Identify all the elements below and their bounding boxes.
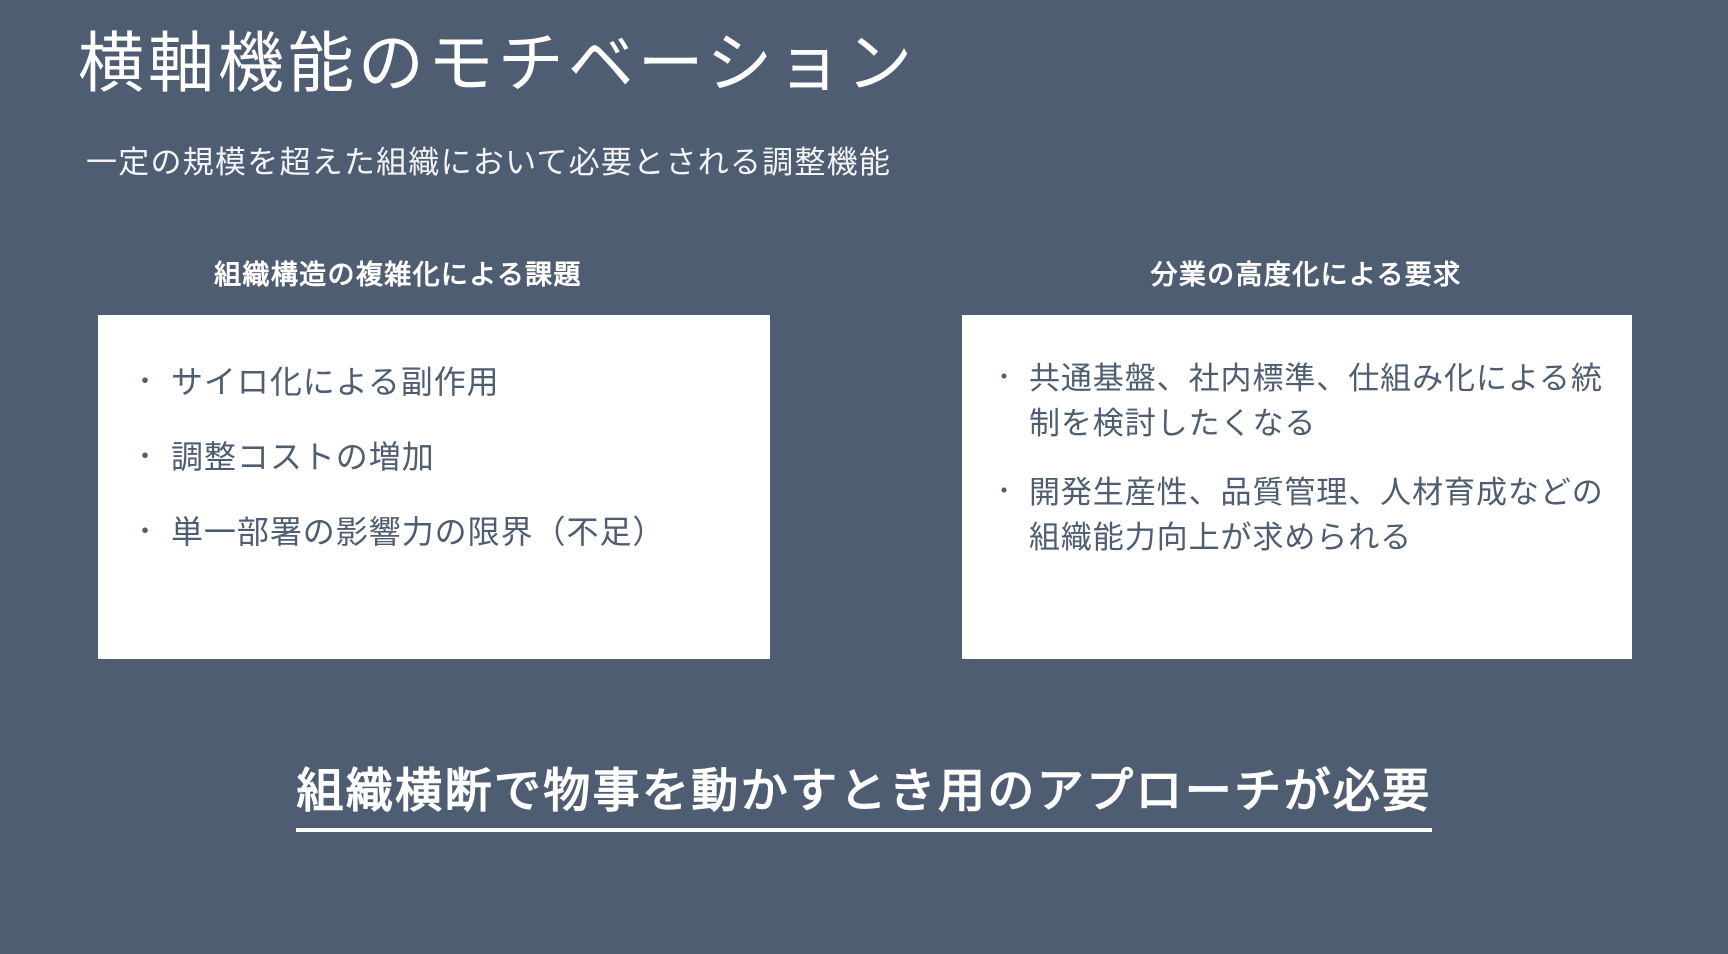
page-subtitle: 一定の規模を超えた組織において必要とされる調整機能: [86, 143, 891, 183]
list-item-label: 共通基盤、社内標準、仕組み化による統制を検討したくなる: [1029, 357, 1606, 447]
bullet-dot-icon: ・: [992, 357, 1017, 399]
card-challenges: ・ サイロ化による副作用 ・ 調整コストの増加 ・ 単一部署の影響力の限界（不足…: [98, 315, 770, 659]
conclusion-label: 組織横断で物事を動かすとき用のアプローチが必要: [296, 760, 1431, 832]
list-item-label: 調整コストの増加: [171, 436, 744, 479]
column-challenges: 組織構造の複雑化による課題 ・ サイロ化による副作用 ・ 調整コストの増加 ・ …: [98, 258, 770, 659]
list-item: ・ 単一部署の影響力の限界（不足）: [132, 511, 744, 554]
list-item-label: サイロ化による副作用: [171, 361, 744, 404]
bullet-dot-icon: ・: [992, 471, 1017, 513]
column-heading-challenges: 組織構造の複雑化による課題: [98, 258, 770, 293]
column-heading-requirements: 分業の高度化による要求: [962, 258, 1632, 293]
column-requirements: 分業の高度化による要求 ・ 共通基盤、社内標準、仕組み化による統制を検討したくな…: [962, 258, 1632, 659]
list-item-label: 単一部署の影響力の限界（不足）: [171, 511, 744, 554]
two-column-area: 組織構造の複雑化による課題 ・ サイロ化による副作用 ・ 調整コストの増加 ・ …: [0, 258, 1728, 678]
slide: 横軸機能のモチベーション 一定の規模を超えた組織において必要とされる調整機能 組…: [0, 0, 1728, 954]
page-title: 横軸機能のモチベーション: [78, 26, 916, 102]
list-item: ・ サイロ化による副作用: [132, 361, 744, 404]
bullet-list-requirements: ・ 共通基盤、社内標準、仕組み化による統制を検討したくなる ・ 開発生産性、品質…: [992, 357, 1606, 561]
list-item: ・ 開発生産性、品質管理、人材育成などの組織能力向上が求められる: [992, 471, 1606, 561]
list-item-label: 開発生産性、品質管理、人材育成などの組織能力向上が求められる: [1029, 471, 1606, 561]
card-requirements: ・ 共通基盤、社内標準、仕組み化による統制を検討したくなる ・ 開発生産性、品質…: [962, 315, 1632, 659]
bullet-dot-icon: ・: [132, 436, 159, 478]
list-item: ・ 調整コストの増加: [132, 436, 744, 479]
bullet-list-challenges: ・ サイロ化による副作用 ・ 調整コストの増加 ・ 単一部署の影響力の限界（不足…: [132, 361, 744, 555]
bullet-dot-icon: ・: [132, 511, 159, 553]
conclusion: 組織横断で物事を動かすとき用のアプローチが必要: [0, 760, 1728, 832]
list-item: ・ 共通基盤、社内標準、仕組み化による統制を検討したくなる: [992, 357, 1606, 447]
bullet-dot-icon: ・: [132, 361, 159, 403]
